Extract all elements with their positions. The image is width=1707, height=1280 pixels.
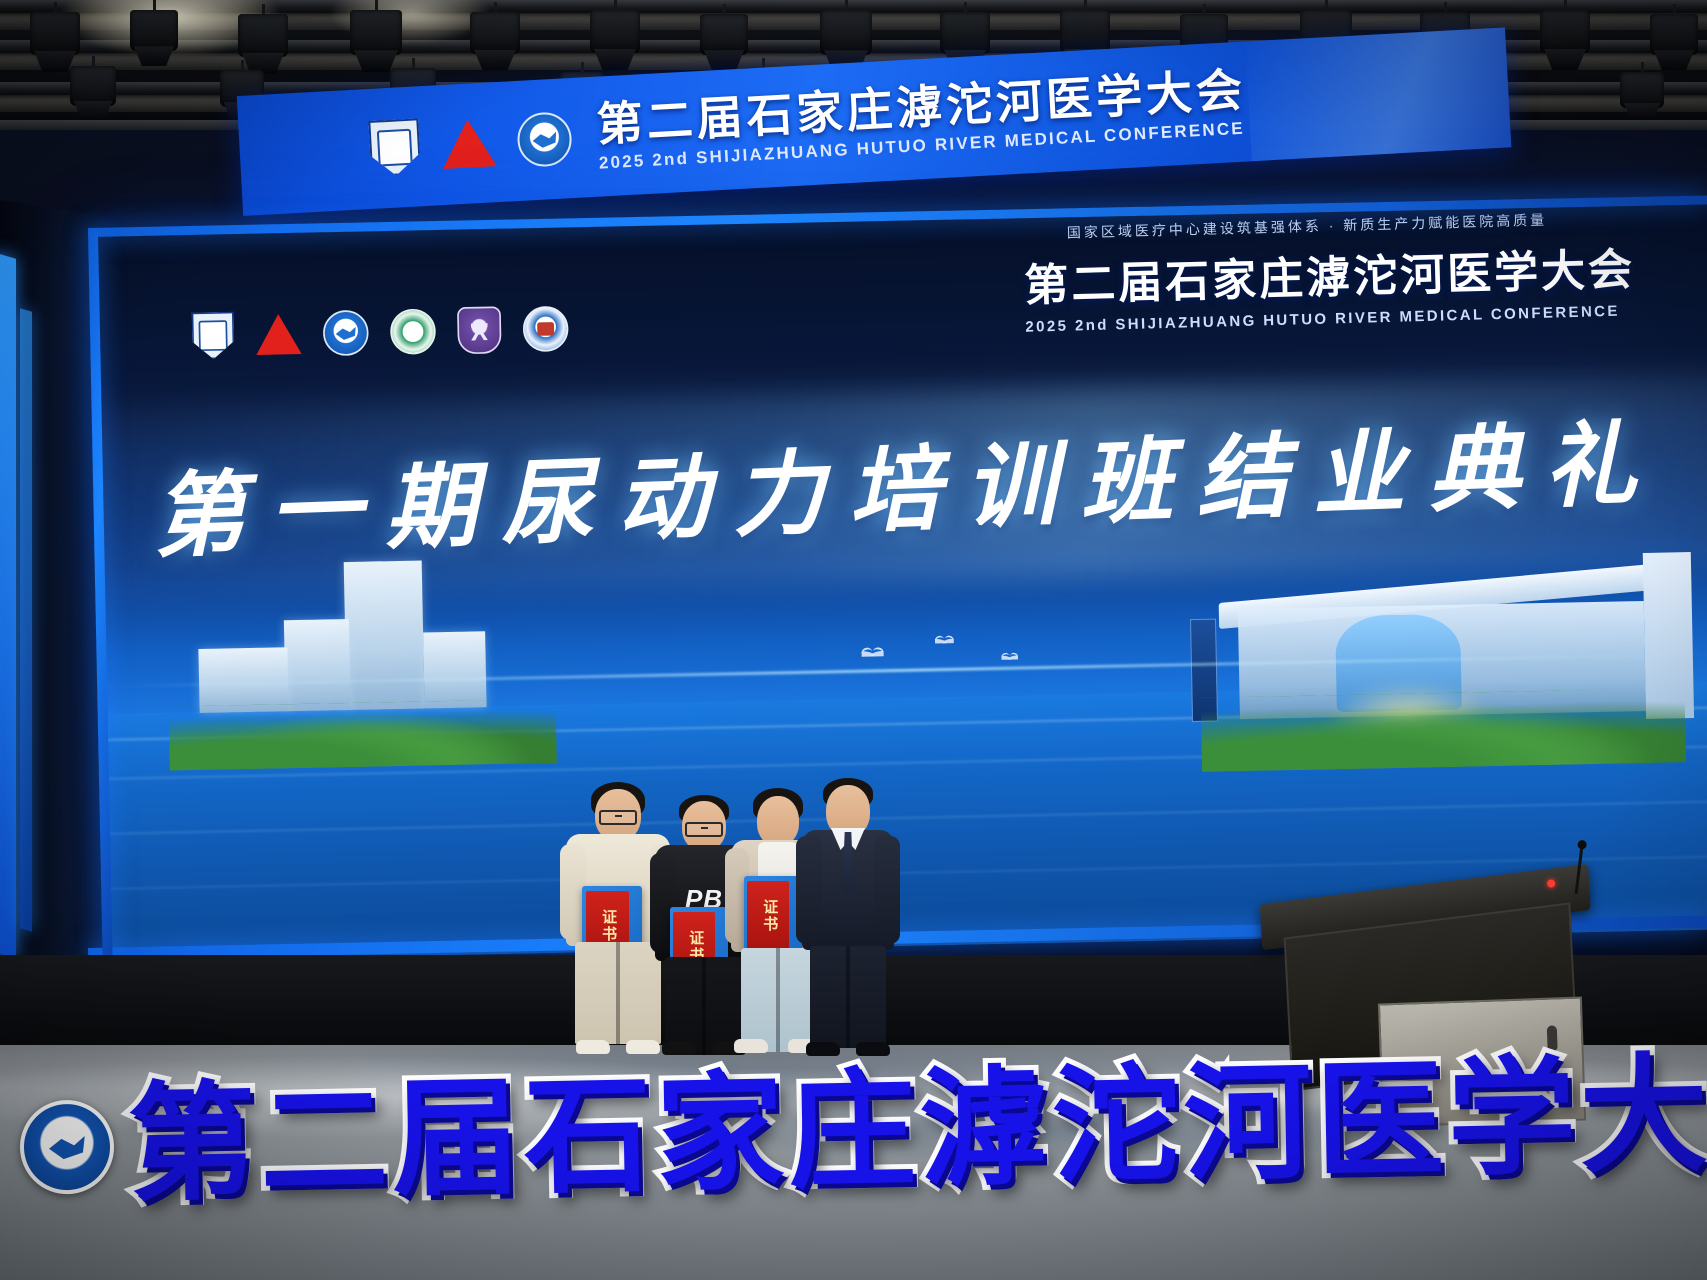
stage-light: [130, 0, 178, 66]
red-triangle-logo-icon: [440, 118, 497, 169]
conference-round-logo-icon: [19, 1099, 115, 1195]
stage-light: [1650, 4, 1698, 70]
stage-light: [70, 56, 116, 120]
side-light-strip: [0, 251, 16, 958]
red-triangle-logo-icon: [256, 314, 302, 355]
certificate: 证书: [744, 876, 802, 956]
purple-shield-cus-logo-icon: [457, 306, 502, 354]
screen-logo-row: [192, 305, 569, 360]
hospital-shield-logo-icon: [192, 312, 235, 360]
glasses-icon: [599, 810, 637, 825]
arm: [874, 836, 900, 944]
screen-hospital-tower-artwork: [166, 573, 557, 771]
glasses-icon: [685, 822, 723, 837]
side-light-strip: [20, 308, 32, 931]
stage-light: [590, 0, 640, 70]
banner-logo-row: [368, 110, 573, 177]
stage-light: [470, 2, 520, 70]
screen-secondary-title-block: 国家区域医疗中心建设筑基强体系 · 新质生产力赋能医院高质量 第二届石家庄滹沱河…: [1023, 205, 1707, 336]
certificate-label: 证书: [599, 909, 615, 943]
bird-icon: [935, 635, 954, 643]
arm: [796, 836, 822, 944]
bird-icon: [1001, 653, 1018, 660]
blue-circle-dove-logo-icon: [323, 310, 369, 356]
caption-watermark: 第二届石家庄滹沱河医学大会: [18, 1018, 1582, 1248]
banner-highlight: [1245, 27, 1511, 161]
hospital-shield-logo-icon: [368, 118, 421, 177]
stage-light: [1540, 0, 1590, 70]
stage-light: [1620, 62, 1664, 120]
green-circle-emblem-logo-icon: [390, 309, 436, 355]
bird-icon: [861, 647, 883, 656]
stage-photo: 第二届石家庄滹沱河医学大会 2025 2nd SHIJIAZHUANG HUTU…: [0, 0, 1707, 1280]
led-stage-screen: 国家区域医疗中心建设筑基强体系 · 新质生产力赋能医院高质量 第二届石家庄滹沱河…: [95, 200, 1707, 962]
certificate-label: 证书: [760, 899, 776, 933]
caption-watermark-text: 第二届石家庄滹沱河医学大会: [127, 1049, 1707, 1210]
person-presenting-official: [800, 778, 896, 1046]
legs: [575, 942, 661, 1044]
blue-circle-dove-logo-icon: [516, 111, 573, 168]
head: [757, 796, 799, 846]
blue-red-circle-logo-icon: [523, 306, 569, 352]
screen-conference-title-cn: 第二届石家庄滹沱河医学大会: [1023, 231, 1707, 314]
